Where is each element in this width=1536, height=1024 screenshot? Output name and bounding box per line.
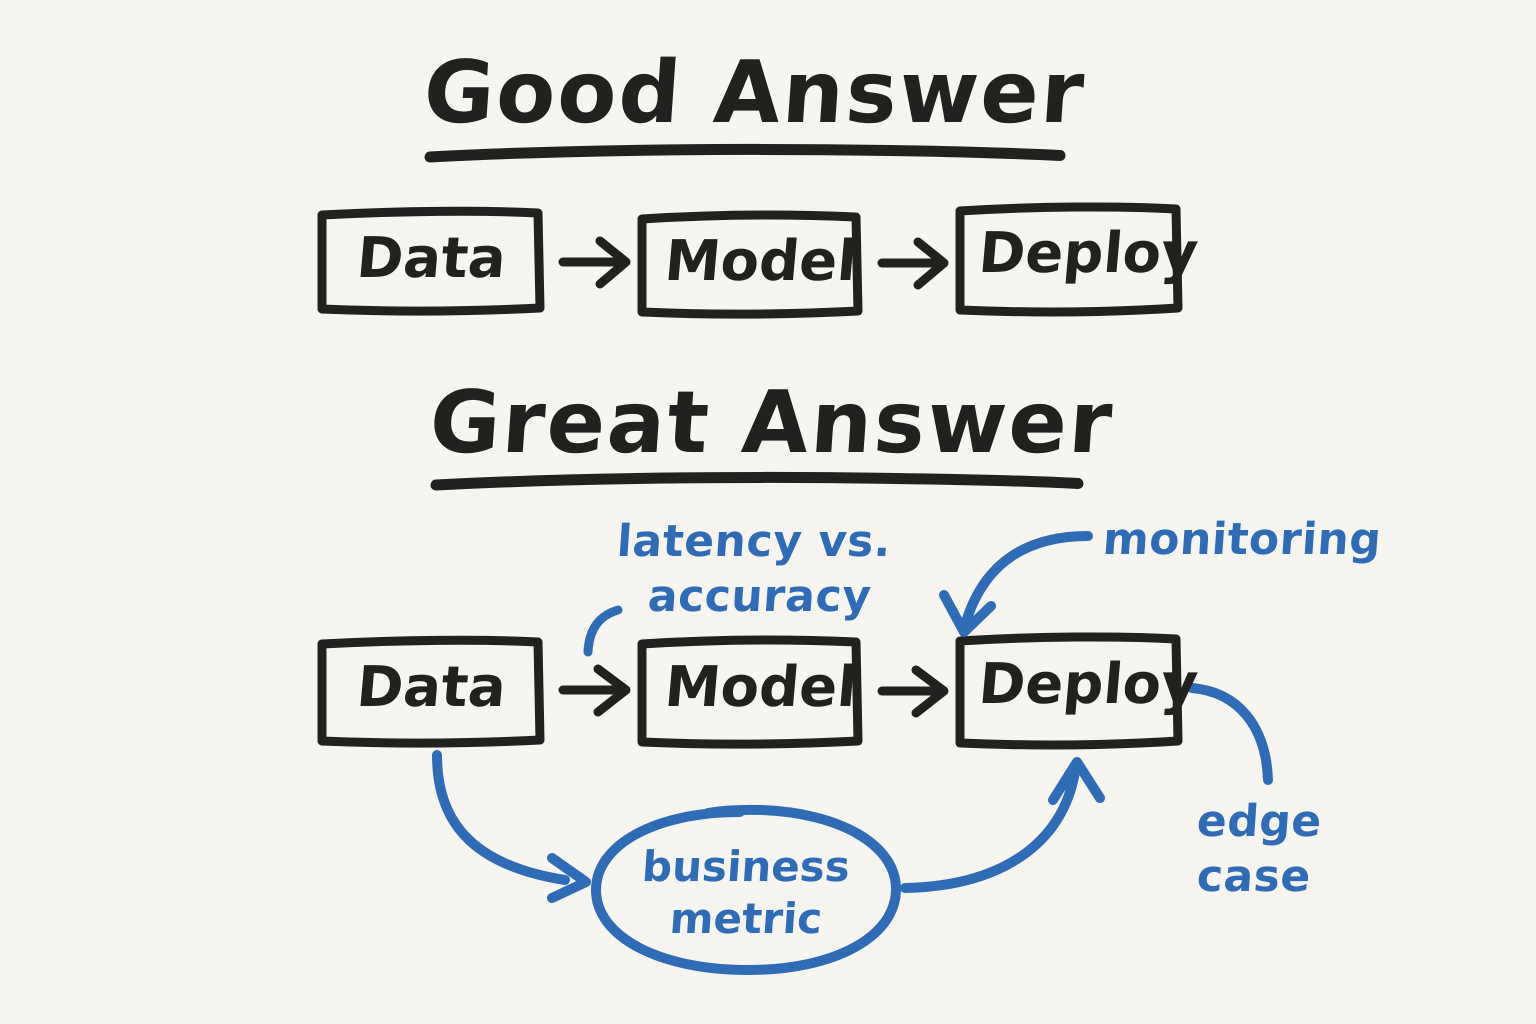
connector-data-to-metric-arrow xyxy=(437,755,586,898)
annotation-latency-line2: accuracy xyxy=(646,575,872,619)
annotation-edge-case-line2: case xyxy=(1195,855,1312,899)
box-label-model: Model xyxy=(663,234,859,290)
annotation-latency-line1: latency vs. xyxy=(615,520,892,564)
connector-metric-to-deploy-arrow xyxy=(905,762,1100,888)
box-label-deploy: Deploy xyxy=(977,226,1201,282)
node-label-business-metric-line2: metric xyxy=(595,898,898,940)
box-label-data: Data xyxy=(355,231,509,287)
annotation-edge-case-line1: edge xyxy=(1195,800,1323,844)
great-answer-title: Great Answer xyxy=(427,380,1117,466)
connector-latency-accuracy xyxy=(588,610,618,652)
box-label-data2: Data xyxy=(355,660,509,716)
annotation-monitoring: monitoring xyxy=(1101,518,1382,562)
sketch-canvas: Good Answer Data Model Deploy Great Answ… xyxy=(0,0,1536,1024)
connector-edge-case xyxy=(1192,688,1268,780)
good-answer-title: Good Answer xyxy=(421,50,1088,136)
node-label-business-metric-line1: business xyxy=(595,846,898,888)
box-label-model2: Model xyxy=(663,660,859,716)
connector-monitoring-arrow xyxy=(944,536,1088,632)
box-label-deploy2: Deploy xyxy=(977,657,1201,713)
